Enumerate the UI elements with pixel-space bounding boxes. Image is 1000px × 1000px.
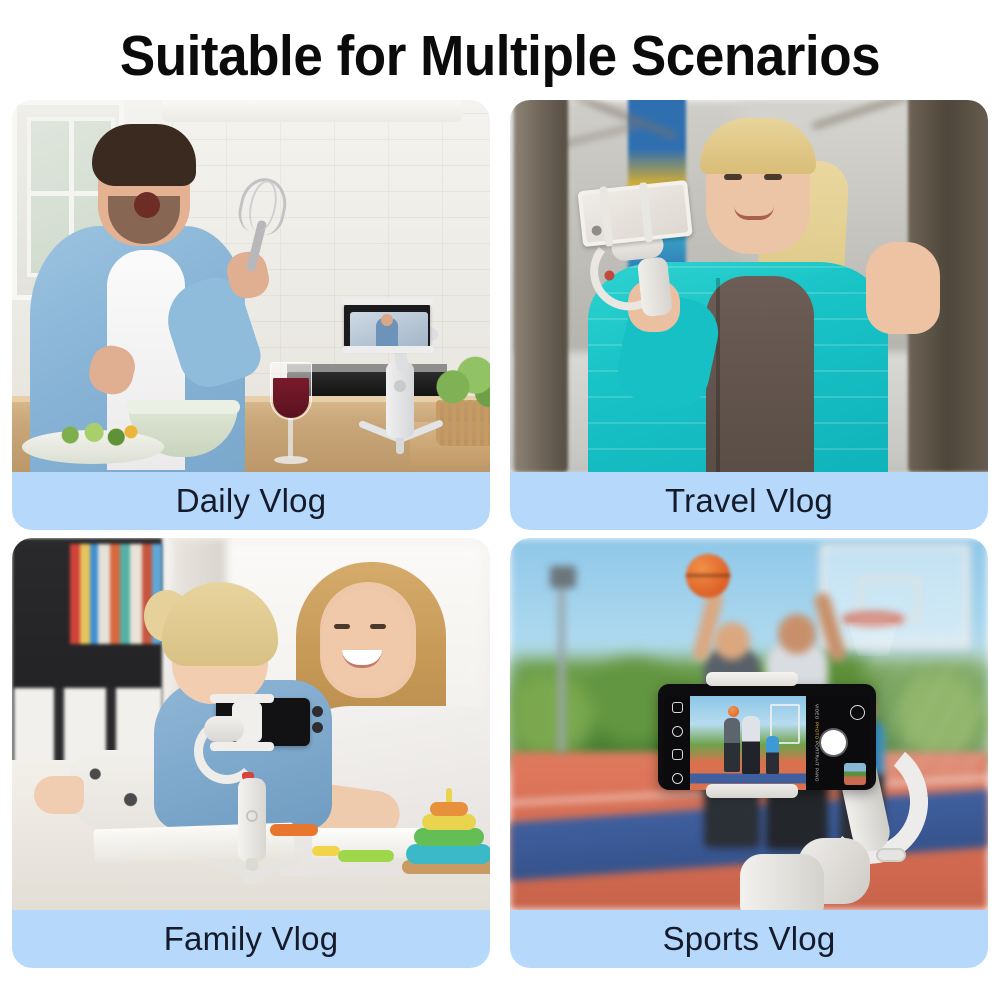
viewfinder-basketball <box>728 706 739 717</box>
man-open-mouth <box>134 192 160 218</box>
toy-ring-yellow <box>422 814 476 830</box>
photo-sports-vlog: VIDEO PHOTO PORTRAIT PANO <box>510 538 988 910</box>
gimbal-joystick <box>876 848 906 862</box>
flash-icon[interactable] <box>672 702 683 713</box>
woman-waving-hand <box>866 242 940 334</box>
phone-clamp-bottom <box>342 346 434 353</box>
filter-icon[interactable] <box>672 773 683 784</box>
timer-icon[interactable] <box>672 749 683 760</box>
gimbal-stabilizer-kitchen <box>342 296 462 472</box>
mother-eye-left <box>334 624 350 629</box>
scenario-card-sports-vlog[interactable]: VIDEO PHOTO PORTRAIT PANO <box>510 538 988 968</box>
phone-camera-lens-bottom <box>312 722 323 733</box>
scenario-grid: Daily Vlog <box>12 100 988 972</box>
man-hair <box>92 124 196 186</box>
mounted-phone <box>577 180 692 247</box>
photo-daily-vlog <box>12 100 490 472</box>
gimbal-stabilizer-family <box>198 698 328 898</box>
photo-family-vlog <box>12 538 490 910</box>
tree-trunk-left <box>514 100 568 472</box>
viewfinder-player-1 <box>724 718 740 772</box>
camera-mode-photo[interactable]: PHOTO <box>815 722 820 739</box>
player-1-head <box>714 622 750 660</box>
red-wine <box>273 378 309 418</box>
toy-ring-green <box>414 828 484 846</box>
gallery-thumbnail[interactable] <box>844 763 866 785</box>
gimbal-stabilizer-sports: VIDEO PHOTO PORTRAIT PANO <box>658 678 948 910</box>
mother-eye-right <box>370 624 386 629</box>
scenario-card-family-vlog[interactable]: Family Vlog <box>12 538 490 968</box>
mounted-phone: VIDEO PHOTO PORTRAIT PANO <box>658 684 876 790</box>
page-title: Suitable for Multiple Scenarios <box>35 22 965 90</box>
product-feature-page: Suitable for Multiple Scenarios <box>0 0 1000 1000</box>
phone-camera-lens-top <box>312 706 323 717</box>
phone-camera-screen[interactable]: VIDEO PHOTO PORTRAIT PANO <box>664 696 870 790</box>
phone-clamp-top <box>706 672 798 686</box>
stacking-ring-toy <box>406 788 490 874</box>
camera-viewfinder <box>690 696 806 790</box>
camera-mode-portrait[interactable]: PORTRAIT <box>815 741 820 766</box>
child-bare-foot <box>34 776 84 814</box>
player-2-head <box>778 614 816 654</box>
range-hood <box>162 100 462 122</box>
wine-glass-stem <box>288 418 293 458</box>
caption-travel-vlog: Travel Vlog <box>510 472 988 530</box>
caption-daily-vlog: Daily Vlog <box>12 472 490 530</box>
woman-eye-right <box>764 174 782 180</box>
camera-right-controls[interactable]: VIDEO PHOTO PORTRAIT PANO <box>806 696 870 790</box>
floodlight-head <box>550 566 576 588</box>
mother-face <box>322 590 410 694</box>
gimbal-handle <box>637 256 673 317</box>
shutter-button[interactable] <box>821 730 846 755</box>
hdr-icon[interactable] <box>672 726 683 737</box>
viewfinder-player-2 <box>742 716 760 774</box>
tripod-leg-back <box>242 876 264 884</box>
salad-food <box>50 422 142 448</box>
caption-sports-vlog: Sports Vlog <box>510 910 988 968</box>
caption-family-vlog: Family Vlog <box>12 910 490 968</box>
camera-mode-pano[interactable]: PANO <box>815 768 820 782</box>
green-crayon <box>338 850 394 862</box>
floodlight-pole <box>558 572 565 752</box>
gimbal-stabilizer-travel <box>577 177 724 322</box>
phone-clamp-bottom <box>706 784 798 798</box>
toy-ring-blue <box>406 844 490 864</box>
camera-flip-icon[interactable] <box>850 705 865 720</box>
toy-ring-orange <box>430 802 468 816</box>
camera-left-toolbar[interactable] <box>664 696 690 790</box>
gimbal-handle <box>740 854 824 910</box>
basketball-seam <box>686 574 730 577</box>
phone-clamp-top <box>342 298 434 305</box>
camera-mode-video[interactable]: VIDEO <box>815 704 820 720</box>
woman-eye-left <box>724 174 742 180</box>
screen-subject-head <box>381 314 393 326</box>
mounted-phone <box>344 302 430 350</box>
gimbal-motor <box>204 716 244 742</box>
scenario-card-travel-vlog[interactable]: Travel Vlog <box>510 100 988 530</box>
gimbal-power-button <box>246 810 258 822</box>
green-bowl-rim <box>126 400 240 414</box>
viewfinder-player-3 <box>766 736 779 774</box>
gimbal-record-button <box>394 380 406 392</box>
gimbal-handle <box>386 362 414 438</box>
photo-travel-vlog <box>510 100 988 472</box>
phone-clamp-bottom <box>210 742 274 751</box>
scenario-card-daily-vlog[interactable]: Daily Vlog <box>12 100 490 530</box>
